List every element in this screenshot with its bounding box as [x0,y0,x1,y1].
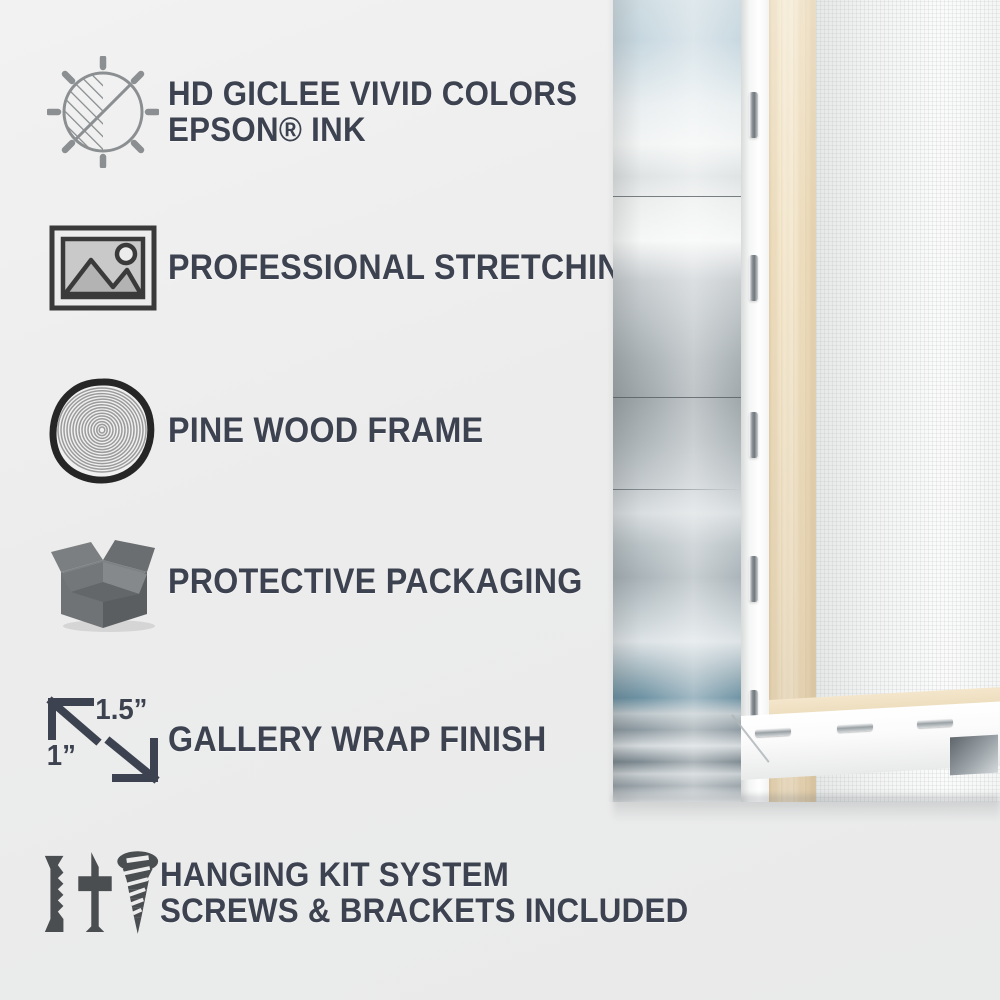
feature-label-group: HD GICLEE VIVID COLORS EPSON® INK [168,76,613,148]
feature-label-line: HANGING KIT SYSTEM [160,857,689,893]
feature-row-gallery-wrap-finish: 1.5” 1” GALLERY WRAP FINISH [38,688,579,792]
feature-label-group: HANGING KIT SYSTEM SCREWS & BRACKETS INC… [160,857,734,929]
feature-row-protective-packaging: PROTECTIVE PACKAGING [38,530,619,634]
canvas-back [816,0,1000,802]
canvas-corner-photo [613,0,1000,802]
photo-drop-shadow [613,795,1000,821]
measure-width-label: 1” [47,740,76,773]
measure-depth-label: 1.5” [95,694,147,727]
staple [749,92,758,138]
printed-art-edge [613,0,743,802]
staple [749,255,758,301]
feature-row-professional-stretching: PROFESSIONAL STRETCHING [38,222,688,314]
feature-list: HD GICLEE VIVID COLORS EPSON® INK PROFES… [0,0,660,1000]
infographic-canvas: HD GICLEE VIVID COLORS EPSON® INK PROFES… [0,0,1000,1000]
diagonal-arrows-measure-icon: 1.5” 1” [38,688,168,792]
feature-label-line: PROTECTIVE PACKAGING [168,563,583,600]
feature-label-line: EPSON® INK [168,112,577,148]
staple [837,723,873,733]
feature-label-line: GALLERY WRAP FINISH [168,721,547,758]
feature-label-line: HD GICLEE VIVID COLORS [168,76,577,112]
corner-notch [950,735,998,776]
framed-picture-icon [38,222,168,314]
staple [749,412,758,458]
staple [749,556,758,602]
tree-rings-icon [38,378,168,484]
feature-label-line: PROFESSIONAL STRETCHING [168,249,646,286]
feature-row-hd-giclee: HD GICLEE VIVID COLORS EPSON® INK [38,56,613,168]
feature-label-line: SCREWS & BRACKETS INCLUDED [160,893,689,929]
open-box-icon [38,530,168,634]
sun-hatched-icon [38,56,168,168]
feature-row-pine-wood-frame: PINE WOOD FRAME [38,378,511,484]
feature-label-line: PINE WOOD FRAME [168,412,483,449]
feature-row-hanging-kit: HANGING KIT SYSTEM SCREWS & BRACKETS INC… [30,845,734,941]
staple [917,718,953,728]
hanging-hardware-icon [30,845,160,941]
